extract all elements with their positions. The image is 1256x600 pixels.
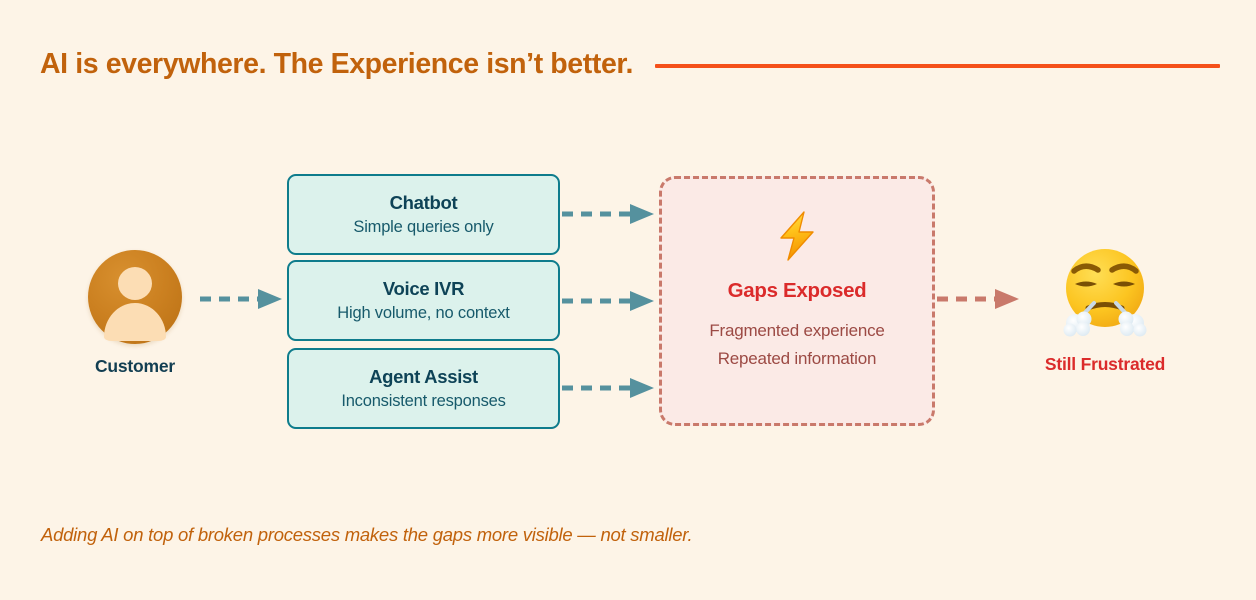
lightning-bolt-icon [775, 211, 819, 261]
face-with-steam-from-nose-emoji-icon [1055, 243, 1155, 343]
avatar-head-shape [118, 267, 152, 300]
customer-node: Customer [73, 250, 197, 377]
arrow-voice-ivr-to-gaps [562, 288, 656, 314]
diagram-canvas: AI is everywhere. The Experience isn’t b… [0, 0, 1256, 600]
channel-subtitle: Simple queries only [353, 218, 493, 237]
channel-box-voice-ivr[interactable]: Voice IVR High volume, no context [287, 260, 560, 341]
customer-avatar-icon [88, 250, 182, 344]
channel-title: Voice IVR [383, 278, 464, 299]
channel-title: Chatbot [390, 192, 458, 213]
footnote: Adding AI on top of broken processes mak… [41, 524, 692, 546]
gaps-detail-line-1: Fragmented experience [709, 321, 884, 341]
page-title: AI is everywhere. The Experience isn’t b… [40, 48, 633, 81]
arrow-chatbot-to-gaps [562, 201, 656, 227]
gaps-exposed-panel: Gaps Exposed Fragmented experience Repea… [659, 176, 935, 426]
title-rule [655, 64, 1220, 68]
channel-title: Agent Assist [369, 366, 478, 387]
header: AI is everywhere. The Experience isn’t b… [40, 42, 1220, 86]
outcome-label: Still Frustrated [1030, 354, 1180, 375]
arrow-gaps-to-outcome [937, 286, 1021, 312]
avatar-body-shape [104, 303, 166, 341]
arrow-customer-to-channels [200, 286, 284, 312]
arrow-agent-assist-to-gaps [562, 375, 656, 401]
gaps-detail-line-2: Repeated information [718, 349, 877, 369]
channel-subtitle: High volume, no context [337, 304, 509, 323]
channel-box-chatbot[interactable]: Chatbot Simple queries only [287, 174, 560, 255]
gaps-title: Gaps Exposed [728, 279, 867, 303]
channel-box-agent-assist[interactable]: Agent Assist Inconsistent responses [287, 348, 560, 429]
customer-label: Customer [73, 356, 197, 377]
outcome-node: Still Frustrated [1030, 243, 1180, 375]
channel-subtitle: Inconsistent responses [341, 392, 505, 411]
